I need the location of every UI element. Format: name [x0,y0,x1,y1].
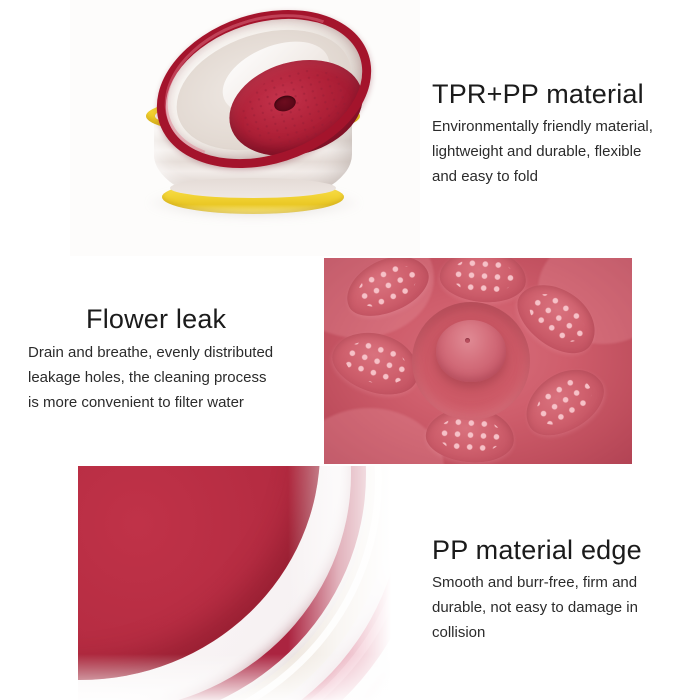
feature-desc-line: durable, not easy to damage in [432,595,684,620]
product-photo-pp-edge [78,466,408,700]
feature-desc-line: Environmentally friendly material, [432,114,682,139]
product-infographic: TPR+PP material Environmentally friendly… [0,0,700,700]
feature-title-flower-leak: Flower leak [86,305,226,335]
feature-desc-line: Drain and breathe, evenly distributed [28,340,310,365]
product-photo-flower-drain-holes [324,258,632,464]
center-knob [436,320,506,382]
yellow-base-ring-shade [170,178,336,198]
product-photo-collapsible-colander [70,0,420,256]
feature-description-flower-leak: Drain and breathe, evenly distributed le… [28,340,310,415]
feature-desc-line: and easy to fold [432,164,682,189]
feature-title-pp-material-edge: PP material edge [432,536,642,566]
photo-scene-top [70,0,420,256]
feature-desc-line: Smooth and burr-free, firm and [432,570,684,595]
photo-bottom-fade [78,654,408,700]
feature-desc-line: lightweight and durable, flexible [432,139,682,164]
feature-desc-line: collision [432,620,684,645]
feature-description-pp-material-edge: Smooth and burr-free, firm and durable, … [432,570,684,645]
feature-desc-line: is more convenient to filter water [28,390,310,415]
center-pin-dot [465,338,470,343]
feature-description-tpr-pp-material: Environmentally friendly material, light… [432,114,682,189]
feature-title-tpr-pp-material: TPR+PP material [432,80,644,110]
feature-desc-line: leakage holes, the cleaning process [28,365,310,390]
